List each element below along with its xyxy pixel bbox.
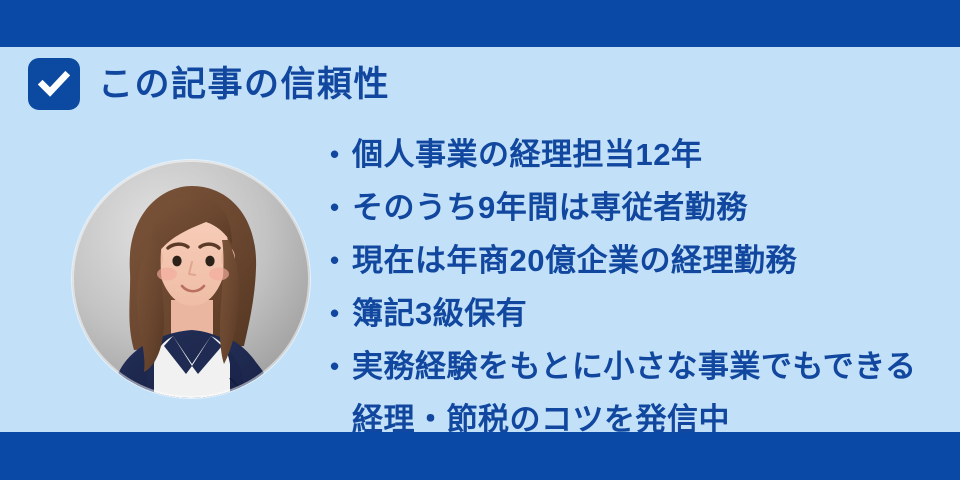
list-item-label: 個人事業の経理担当12年 bbox=[352, 128, 940, 181]
bullet-dot-icon: • bbox=[330, 234, 352, 287]
list-item-label: そのうち9年間は専従者勤務 bbox=[352, 181, 940, 234]
credentials-list: • 個人事業の経理担当12年 • そのうち9年間は専従者勤務 • 現在は年商20… bbox=[330, 128, 940, 446]
list-item: • 簿記3級保有 bbox=[330, 287, 940, 340]
top-banner-band bbox=[0, 0, 960, 47]
page-title: この記事の信頼性 bbox=[98, 67, 390, 102]
avatar bbox=[72, 160, 310, 398]
list-item: • そのうち9年間は専従者勤務 bbox=[330, 181, 940, 234]
list-item-label: 実務経験をもとに小さな事業でもできる 経理・節税のコツを発信中 bbox=[352, 340, 940, 446]
credibility-card: この記事の信頼性 bbox=[0, 0, 960, 480]
checkbox-checked-icon bbox=[28, 58, 80, 110]
bullet-dot-icon: • bbox=[330, 128, 352, 181]
list-item: • 個人事業の経理担当12年 bbox=[330, 128, 940, 181]
list-item-label: 簿記3級保有 bbox=[352, 287, 940, 340]
list-item-label: 現在は年商20億企業の経理勤務 bbox=[352, 234, 940, 287]
list-item: • 実務経験をもとに小さな事業でもできる 経理・節税のコツを発信中 bbox=[330, 340, 940, 446]
bullet-dot-icon: • bbox=[330, 181, 352, 234]
bullet-dot-icon: • bbox=[330, 340, 352, 393]
heading-row: この記事の信頼性 bbox=[28, 58, 390, 110]
list-item: • 現在は年商20億企業の経理勤務 bbox=[330, 234, 940, 287]
bullet-dot-icon: • bbox=[330, 287, 352, 340]
